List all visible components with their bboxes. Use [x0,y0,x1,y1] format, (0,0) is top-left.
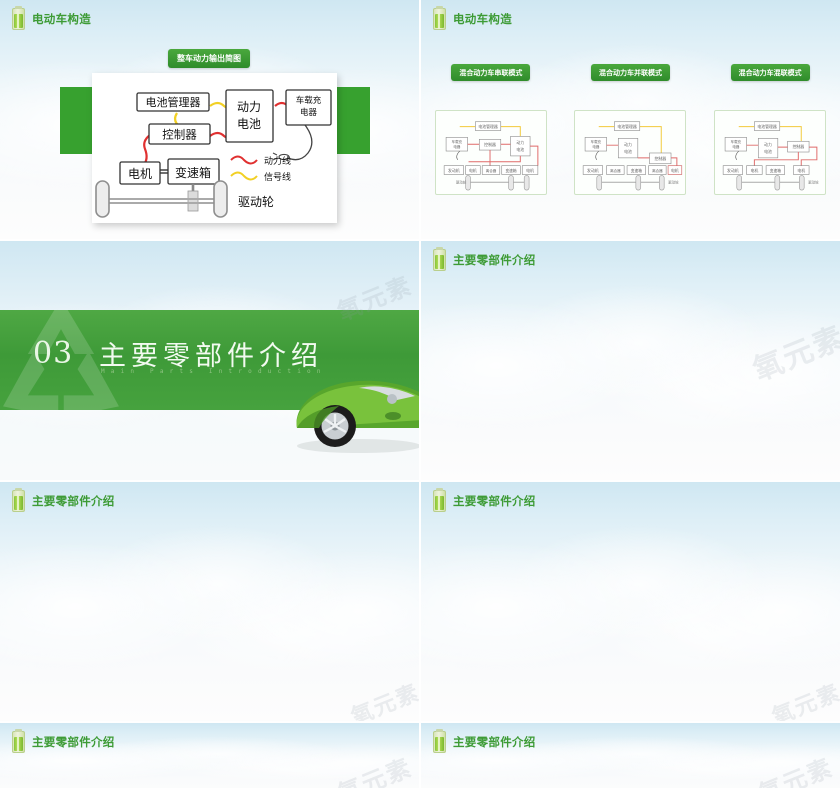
svg-text:驱动轮: 驱动轮 [456,179,467,184]
watermark: 氧元素 [745,313,840,390]
battery-icon [433,249,446,271]
svg-text:发动机: 发动机 [727,168,739,173]
svg-text:电池: 电池 [237,117,261,131]
battery-icon [433,490,446,512]
slide-header-title: 电动车构造 [32,11,91,27]
svg-text:车载充: 车载充 [296,95,322,106]
slide-header-title: 主要零部件介绍 [453,734,536,750]
svg-text:离合器: 离合器 [486,168,497,173]
svg-text:驱动轮: 驱动轮 [238,195,274,209]
svg-text:车载充: 车载充 [591,139,602,144]
svg-text:车载充: 车载充 [451,139,462,144]
svg-text:动力: 动力 [764,142,772,147]
slide-header: 主要零部件介绍 [12,731,115,753]
svg-text:驱动轮: 驱动轮 [669,179,680,184]
svg-text:电池: 电池 [625,149,633,154]
mode-badge-row: 混合动力车串联模式 混合动力车并联模式 混合动力车混联模式 [421,64,840,81]
slide-header: 电动车构造 [12,8,91,30]
battery-icon [12,731,25,753]
svg-text:变速箱: 变速箱 [631,168,642,173]
slide-thumbnail-5[interactable]: 主要零部件介绍 动力电池（电机+变速箱 [0,482,419,721]
svg-text:变速箱: 变速箱 [505,168,516,173]
slide-thumbnail-6[interactable]: 主要零部件介绍 [421,482,840,721]
svg-text:驱动轮: 驱动轮 [808,179,819,184]
svg-text:控制器: 控制器 [484,142,496,147]
svg-text:电机: 电机 [526,168,534,173]
svg-text:离合器: 离合器 [611,168,622,173]
svg-text:动力: 动力 [237,100,261,114]
watermark: 氧元素 [346,675,419,721]
mode-diagram-series-parallel: 电池管理器 车载充 电器 动力 电池 控制器 发动机 电机 变速 [714,110,826,195]
svg-text:电池: 电池 [516,147,524,152]
mode-diagram-series: 电池管理器 车载充 电器 控制器 动力 电池 发动机 电机 [435,110,547,195]
svg-text:信号线: 信号线 [264,171,291,183]
slide-header-title: 主要零部件介绍 [32,493,115,509]
slide-thumbnail-4[interactable]: 主要零部件介绍 动力电池 为整车储存能量，内部设置有动力电池管理器和温度、电压传… [421,241,840,480]
svg-text:发动机: 发动机 [448,168,460,173]
green-car-image [273,350,419,458]
svg-text:电器: 电器 [300,107,318,118]
slide-thumbnail-3[interactable]: 03 主要零部件介绍 Main Parts Introduction 氧元素 [0,241,419,480]
svg-text:电池管理器: 电池管理器 [146,95,201,109]
svg-text:控制器: 控制器 [793,144,805,149]
svg-text:电器: 电器 [593,144,600,149]
svg-text:发动机: 发动机 [588,168,600,173]
section-number: 03 [33,336,73,371]
svg-text:电器: 电器 [732,144,739,149]
slide-thumbnail-grid: 电动车构造 整车动力输出简图 电池管理器 控制器 [0,0,840,788]
svg-text:电池管理器: 电池管理器 [478,124,498,129]
mode-badge-series-parallel[interactable]: 混合动力车混联模式 [731,64,810,81]
slide-thumbnail-7[interactable]: 主要零部件介绍 驱动电器控制器 氧元素 [0,723,419,788]
slide-thumbnail-2[interactable]: 电动车构造 混合动力车串联模式 混合动力车并联模式 混合动力车混联模式 电池管理… [421,0,840,239]
slide-header: 主要零部件介绍 [433,731,536,753]
svg-text:电池管理器: 电池管理器 [618,124,638,129]
svg-text:动力线: 动力线 [264,155,291,167]
slide-header-title: 主要零部件介绍 [453,252,536,268]
slide-thumbnail-8[interactable]: 主要零部件介绍 [421,723,840,788]
svg-text:电机: 电机 [469,168,477,173]
slide-header-title: 主要零部件介绍 [32,734,115,750]
svg-text:变速箱: 变速箱 [770,168,781,173]
watermark: 氧元素 [767,675,840,721]
watermark: 氧元素 [331,748,416,788]
svg-text:控制器: 控制器 [655,156,667,161]
slide-header: 主要零部件介绍 [433,490,536,512]
mode-diagram-row: 电池管理器 车载充 电器 控制器 动力 电池 发动机 电机 [421,110,840,195]
svg-text:电机: 电机 [128,167,152,181]
svg-text:控制器: 控制器 [162,128,197,142]
svg-text:车载充: 车载充 [731,139,742,144]
svg-text:变速箱: 变速箱 [175,165,211,180]
powertrain-diagram: 电池管理器 控制器 动力 电池 车载充 电器 电机 变速箱 [92,73,337,223]
svg-text:电池管理器: 电池管理器 [757,124,777,129]
svg-text:电机: 电机 [751,168,759,173]
slide-header-title: 主要零部件介绍 [453,493,536,509]
mode-badge-parallel[interactable]: 混合动力车并联模式 [591,64,670,81]
slide-thumbnail-1[interactable]: 电动车构造 整车动力输出简图 电池管理器 控制器 [0,0,419,239]
watermark: 氧元素 [752,748,837,788]
powertrain-diagram-card: 电池管理器 控制器 动力 电池 车载充 电器 电机 变速箱 [92,73,337,223]
svg-text:离合器: 离合器 [653,168,664,173]
slide-header: 电动车构造 [433,8,512,30]
svg-text:动力: 动力 [516,140,524,145]
mode-badge-series[interactable]: 混合动力车串联模式 [451,64,530,81]
battery-icon [12,490,25,512]
mode-diagram-parallel: 电池管理器 车载充 电器 动力 电池 控制器 发动机 离合器 变 [574,110,686,195]
svg-text:电机: 电机 [797,168,805,173]
svg-text:电池: 电池 [764,149,772,154]
slide-header-title: 电动车构造 [453,11,512,27]
svg-text:电机: 电机 [672,168,680,173]
battery-icon [433,8,446,30]
slide-header: 主要零部件介绍 [12,490,115,512]
section-badge[interactable]: 整车动力输出简图 [168,49,250,68]
svg-text:动力: 动力 [625,142,633,147]
battery-icon [12,8,25,30]
slide-header: 主要零部件介绍 [433,249,536,271]
svg-text:电器: 电器 [453,144,461,149]
battery-icon [433,731,446,753]
